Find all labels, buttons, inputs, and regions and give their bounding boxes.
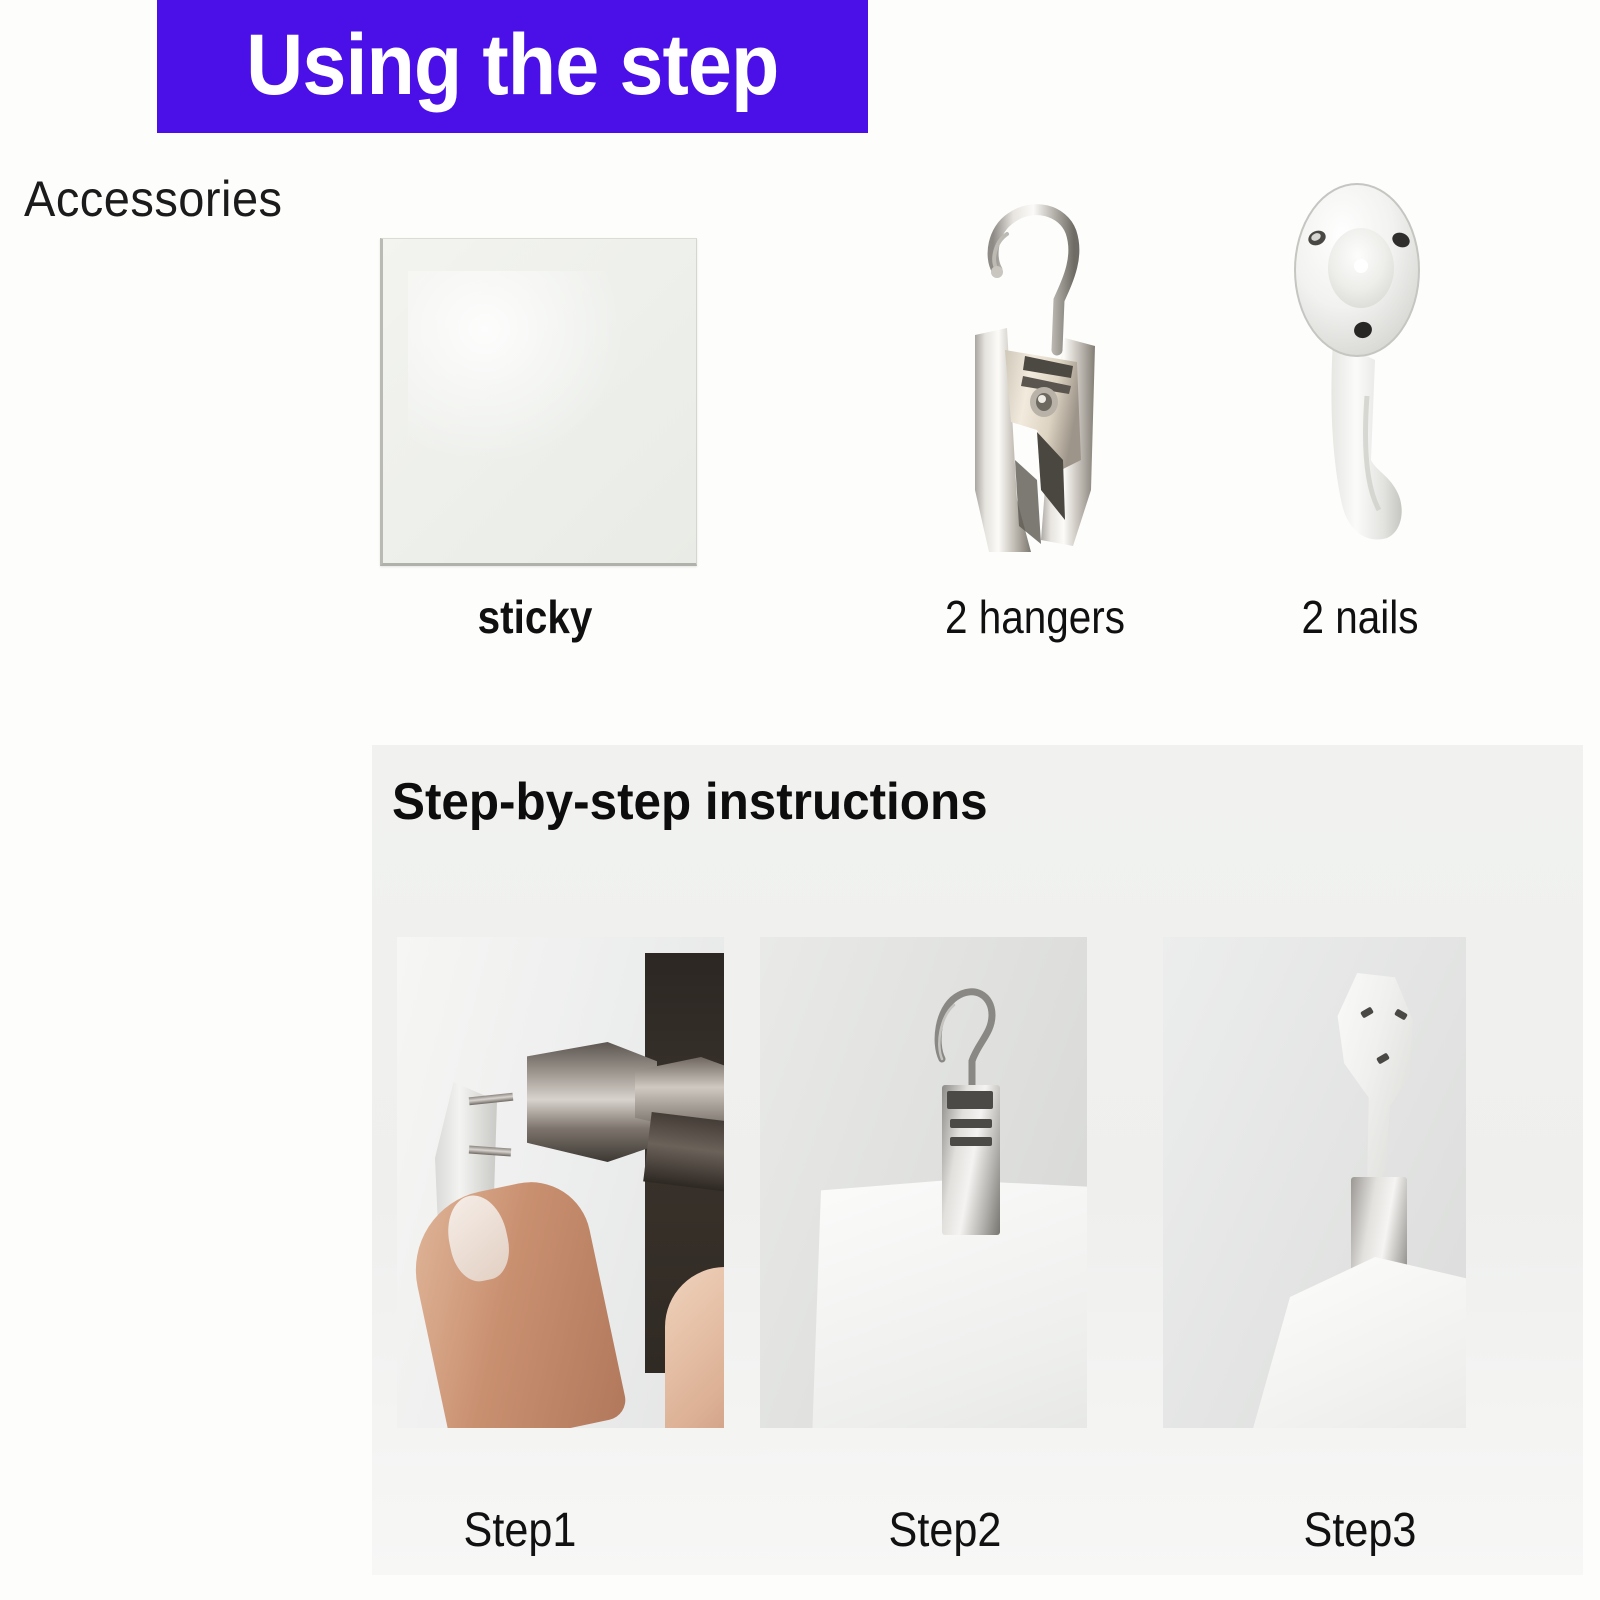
step-caption-3: Step3 xyxy=(1207,1503,1513,1558)
clip-slot-mid xyxy=(950,1119,992,1128)
clip-slot-low xyxy=(950,1137,992,1146)
instructions-heading: Step-by-step instructions xyxy=(392,772,988,832)
metal-clip xyxy=(942,1085,1000,1235)
hanger-clip-icon xyxy=(945,160,1125,560)
step-photo-3[interactable] xyxy=(1163,937,1466,1428)
accessories-row: sticky xyxy=(0,150,1600,670)
page-title: Using the step xyxy=(246,22,778,108)
accessory-caption-nails: 2 nails xyxy=(1228,590,1492,644)
sticky-pad-icon xyxy=(380,238,697,566)
accessory-caption-sticky: sticky xyxy=(390,590,680,644)
step-caption-1: Step1 xyxy=(367,1503,673,1558)
accessory-caption-hangers: 2 hangers xyxy=(903,590,1167,644)
step-caption-2: Step2 xyxy=(792,1503,1098,1558)
clip-slot-top xyxy=(947,1091,993,1109)
title-banner: Using the step xyxy=(157,0,868,133)
clip-s-hook xyxy=(930,981,1000,1091)
step-photo-2[interactable] xyxy=(760,937,1087,1428)
wall-hook-nail-icon xyxy=(1275,160,1445,560)
step-photo-1[interactable] xyxy=(397,937,724,1428)
